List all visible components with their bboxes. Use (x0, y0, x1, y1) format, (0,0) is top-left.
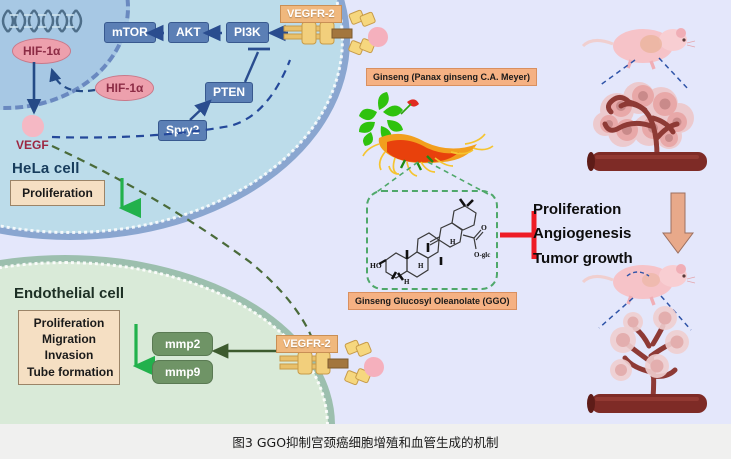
endothelial-down-arrow-icon (126, 322, 146, 378)
mmp9-box: mmp9 (152, 360, 213, 384)
blood-vessel-icon (587, 394, 707, 413)
hela-proliferation-box: Proliferation (10, 180, 105, 206)
mechanism-figure: HIF-1α HIF-1α VEGF mTOR AKT PI3K PTEN Sp… (0, 0, 731, 424)
svg-text:H: H (418, 262, 424, 270)
endothelial-outcome-line-3: Invasion (27, 347, 111, 363)
small-tumor-vasculature-icon (610, 306, 689, 398)
chemical-structure-icon: HO O O-glc H H H (368, 192, 496, 288)
svg-text:HO: HO (370, 261, 382, 270)
transition-down-arrow-icon (660, 193, 696, 255)
svg-text:O: O (481, 223, 487, 232)
svg-text:H: H (404, 278, 410, 286)
endothelial-outcome-line-2: Migration (27, 331, 111, 347)
mmp-activation-arrow (200, 340, 282, 362)
animal-model-top (565, 14, 725, 174)
ggo-structure-box: HO O O-glc H H H (366, 190, 498, 290)
mouse-icon (583, 28, 695, 69)
blood-vessel-icon (587, 152, 707, 171)
endothelial-cell-label: Endothelial cell (14, 285, 124, 302)
large-tumor-vasculature-icon (593, 82, 694, 156)
ggo-compound-label: Ginseng Glucosyl Oleanolate (GGO) (348, 292, 517, 310)
endothelial-outcome-box: Proliferation Migration Invasion Tube fo… (18, 310, 120, 385)
vegf-ligand-top-icon (368, 27, 388, 47)
vegfr2-label-bottom: VEGFR-2 (276, 335, 338, 353)
hela-down-arrow-icon (112, 176, 132, 218)
animal-model-bottom (565, 250, 725, 418)
vegfr2-label-top: VEGFR-2 (280, 5, 342, 23)
svg-text:H: H (450, 238, 456, 246)
svg-text:O-glc: O-glc (474, 251, 490, 259)
vegf-ligand-bottom-icon (364, 357, 384, 377)
mouse-icon (583, 264, 695, 305)
endothelial-outcome-line-4: Tube formation (27, 364, 111, 380)
figure-caption: 图3 GGO抑制宫颈癌细胞增殖和血管生成的机制 (0, 424, 731, 459)
ginseng-title-label: Ginseng (Panax ginseng C.A. Meyer) (366, 68, 537, 86)
hela-cell-label: HeLa cell (12, 160, 80, 177)
outcome-proliferation: Proliferation (533, 198, 633, 222)
endothelial-outcome-line-1: Proliferation (27, 315, 111, 331)
outcome-angiogenesis: Angiogenesis (533, 222, 633, 246)
